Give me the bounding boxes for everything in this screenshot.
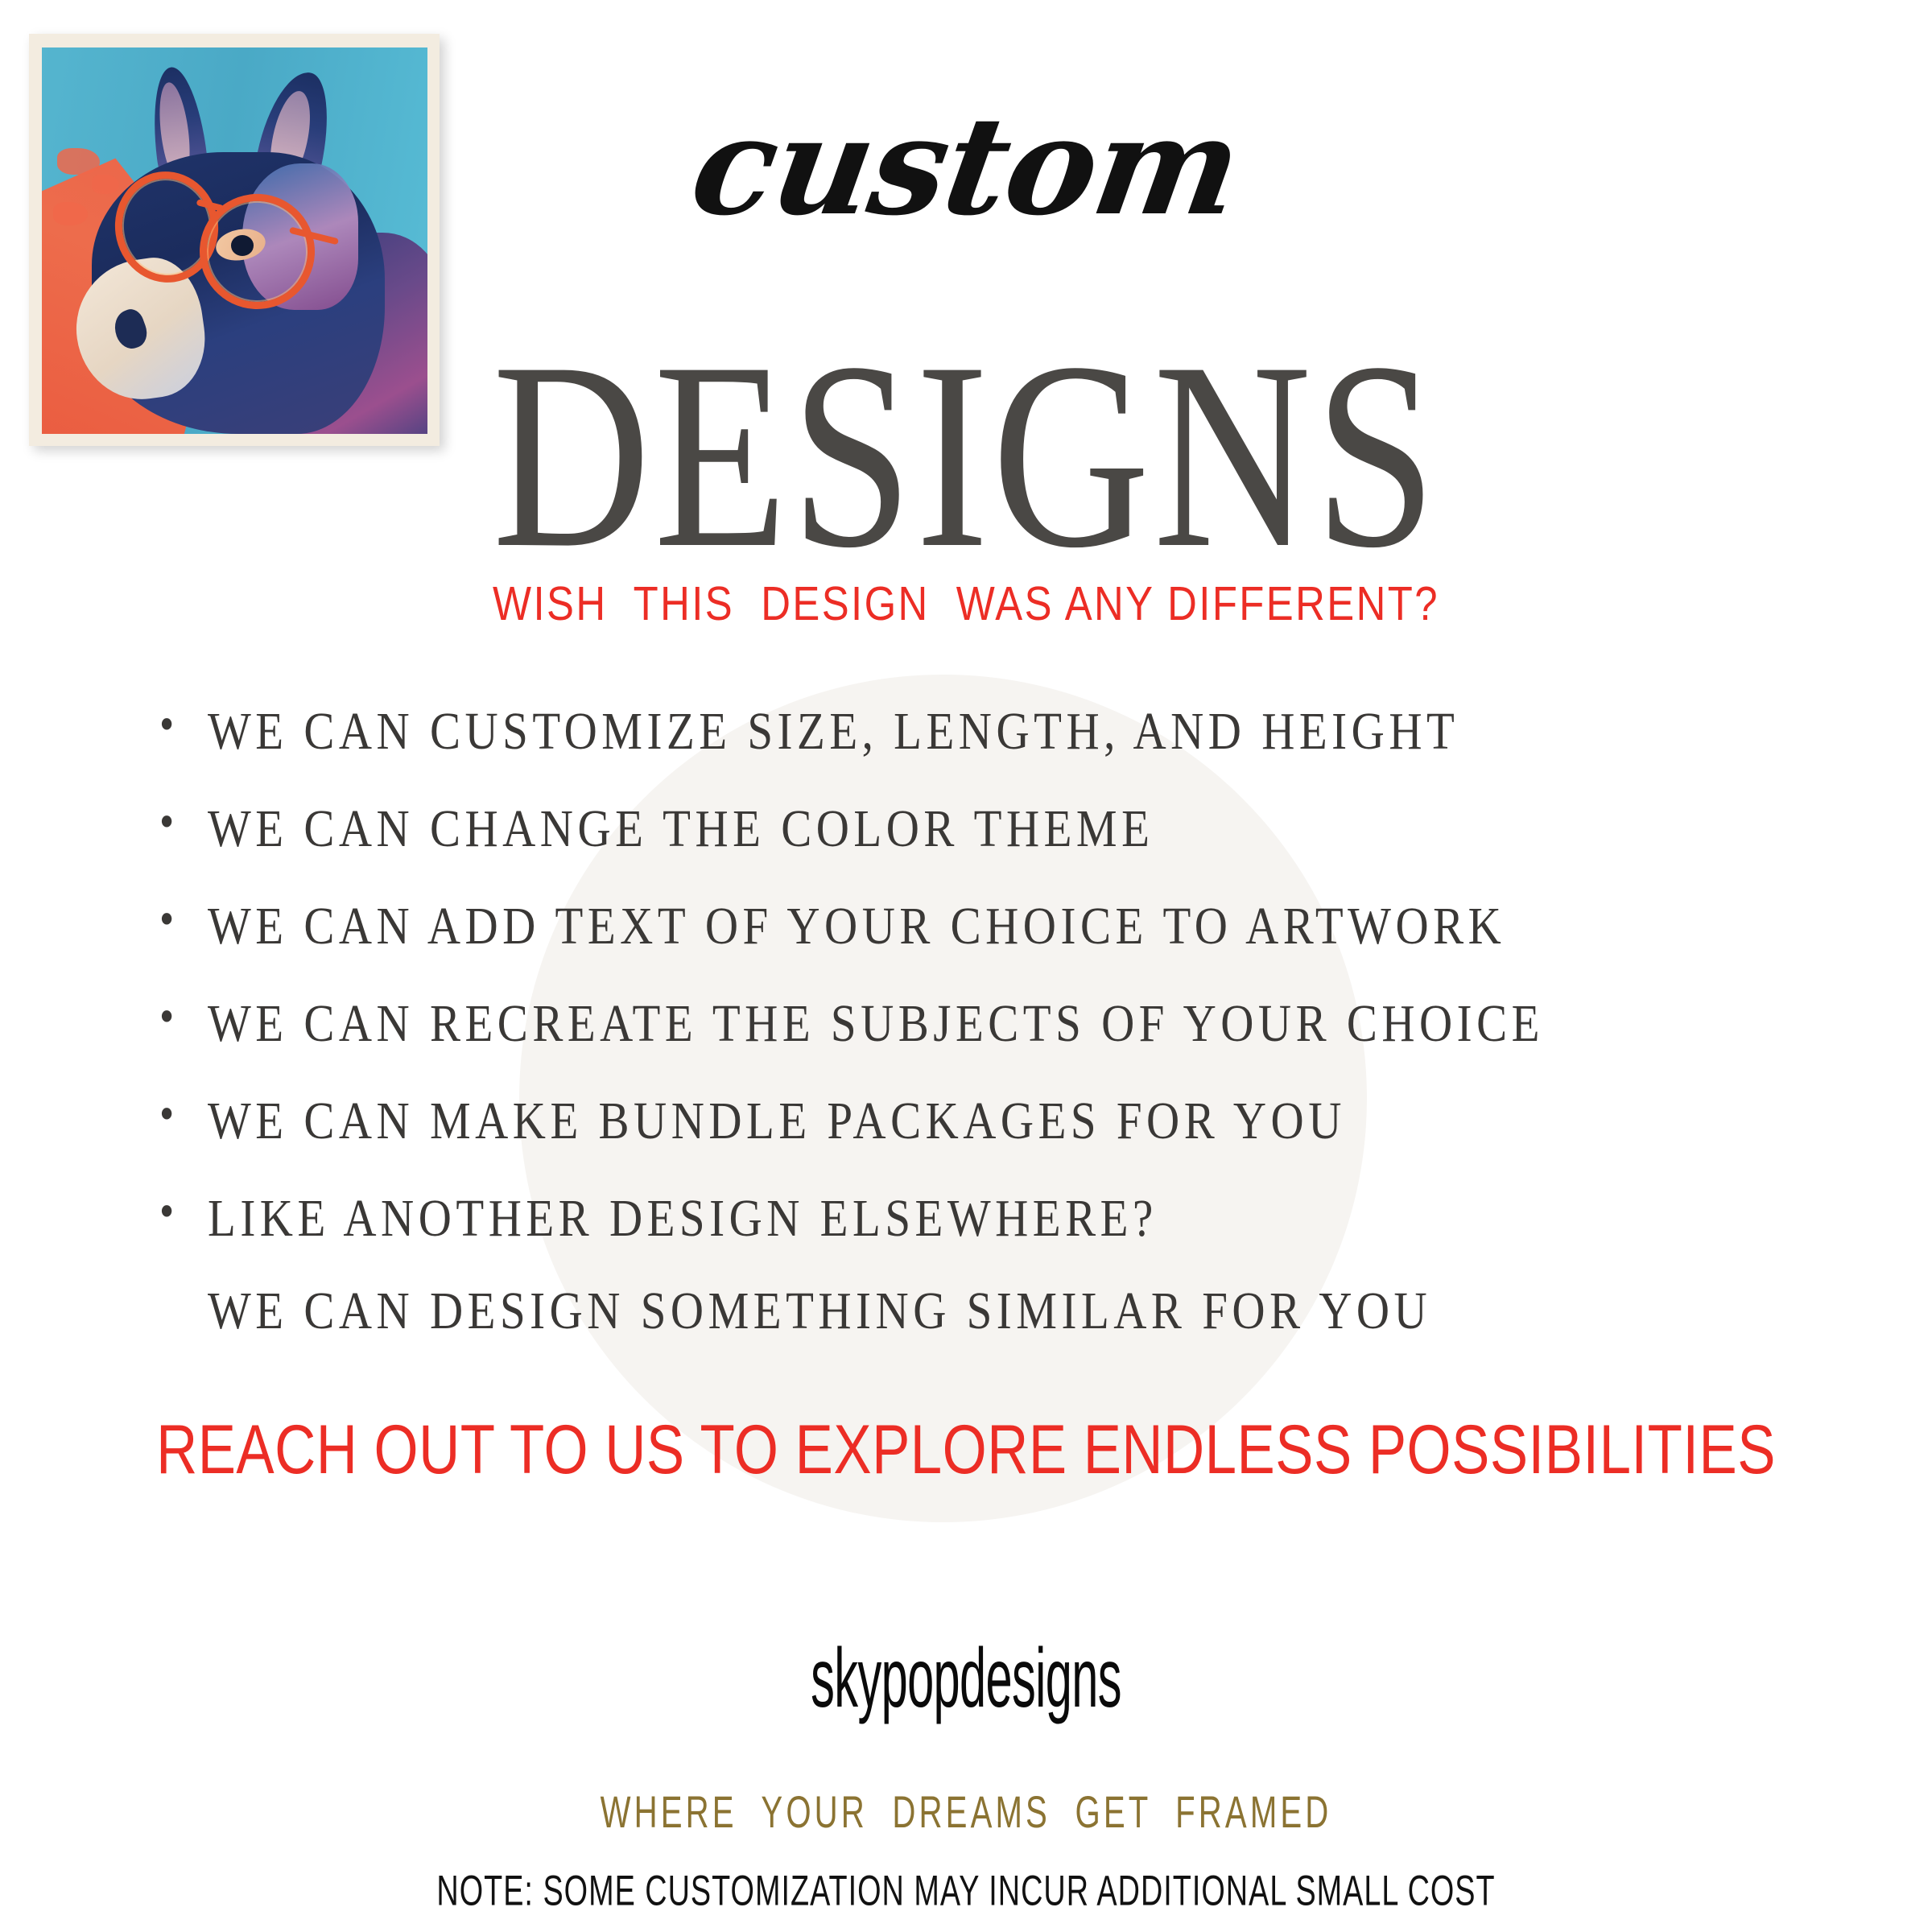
painting-splotch — [57, 148, 100, 175]
list-item: WE CAN ADD TEXT OF YOUR CHOICE TO ARTWOR… — [153, 899, 1787, 952]
benefit-text: WE CAN ADD TEXT OF YOUR CHOICE TO ARTWOR… — [208, 897, 1505, 956]
benefit-text: LIKE ANOTHER DESIGN ELSEWHERE? — [208, 1189, 1158, 1248]
list-item: LIKE ANOTHER DESIGN ELSEWHERE? — [153, 1191, 1787, 1245]
benefit-text: WE CAN MAKE BUNDLE PACKAGES FOR YOU — [208, 1092, 1346, 1150]
call-to-action-text: REACH OUT TO US TO EXPLORE ENDLESS POSSI… — [29, 1410, 1903, 1489]
subheadline: WISH THIS DESIGN WAS ANY DIFFERENT? — [39, 576, 1893, 631]
benefit-text: WE CAN DESIGN SOMETHING SIMILAR FOR YOU — [208, 1282, 1431, 1340]
painting-splotch — [53, 202, 88, 225]
brand-tagline: WHERE YOUR DREAMS GET FRAMED — [174, 1787, 1758, 1839]
list-item-continuation: WE CAN DESIGN SOMETHING SIMILAR FOR YOU — [153, 1284, 1787, 1337]
benefit-text: WE CAN RECREATE THE SUBJECTS OF YOUR CHO… — [208, 994, 1544, 1053]
brand-logo-text: skypopdesigns — [367, 1631, 1565, 1727]
benefit-text: WE CAN CUSTOMIZE SIZE, LENGTH, AND HEIGH… — [208, 702, 1459, 761]
benefits-list: WE CAN CUSTOMIZE SIZE, LENGTH, AND HEIGH… — [153, 708, 1787, 1385]
artwork-thumbnail — [29, 34, 440, 446]
list-item: WE CAN MAKE BUNDLE PACKAGES FOR YOU — [153, 1094, 1787, 1147]
footer-note: NOTE: SOME CUSTOMIZATION MAY INCUR ADDIT… — [155, 1866, 1777, 1915]
benefit-text: WE CAN CHANGE THE COLOR THEME — [208, 799, 1154, 858]
list-item: WE CAN RECREATE THE SUBJECTS OF YOUR CHO… — [153, 997, 1787, 1050]
donkey-painting-image — [42, 47, 427, 434]
painting-splotch — [92, 175, 119, 194]
list-item: WE CAN CHANGE THE COLOR THEME — [153, 802, 1787, 855]
list-item: WE CAN CUSTOMIZE SIZE, LENGTH, AND HEIGH… — [153, 704, 1787, 758]
